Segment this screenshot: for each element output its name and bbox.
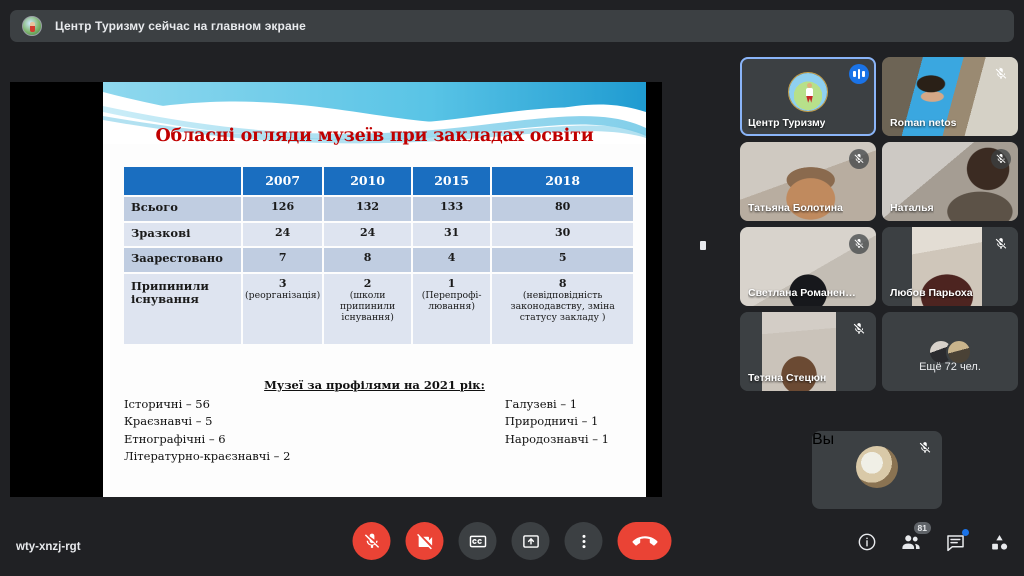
table-cell: 30 xyxy=(491,222,633,248)
tile-row: Тетяна Стецюн Ещё 72 чел. xyxy=(740,312,1018,391)
profiles-right-column: Галузеві – 1 Природничі – 1 Народознавчі… xyxy=(505,396,633,466)
chat-button[interactable] xyxy=(944,531,966,553)
table-row: Всього 126 132 133 80 xyxy=(124,196,633,222)
cell-number: 4 xyxy=(415,252,488,265)
participant-name: Центр Туризму xyxy=(748,117,825,129)
more-participants-tile[interactable]: Ещё 72 чел. xyxy=(882,312,1018,391)
profiles-left-column: Історичні – 56 Краєзнавчі – 5 Етнографіч… xyxy=(124,396,290,466)
bottom-right-icons: 81 xyxy=(856,531,1010,553)
table-cell: 7 xyxy=(242,247,323,273)
participants-count-badge: 81 xyxy=(914,522,931,534)
table-cell: 4 xyxy=(412,247,491,273)
closed-captions-icon xyxy=(468,532,487,551)
chat-unread-dot xyxy=(962,529,969,536)
cell-note: (реорганізація) xyxy=(245,291,320,302)
tile-row: Татьяна Болотина Наталья xyxy=(740,142,1018,221)
table-cell: 132 xyxy=(323,196,412,222)
cell-number: 5 xyxy=(494,252,631,265)
participant-rail: Центр Туризму Roman netos xyxy=(740,57,1018,397)
table-header-cell xyxy=(124,167,242,196)
participant-name: Светлана Романен… xyxy=(748,287,856,299)
participant-tile-centr-turizmu[interactable]: Центр Туризму xyxy=(740,57,876,136)
table-cell: 126 xyxy=(242,196,323,222)
tourism-center-logo-icon xyxy=(22,16,42,36)
mic-off-icon xyxy=(991,64,1011,84)
cell-note: (невідповідність законодавству, зміна ст… xyxy=(494,291,631,324)
profile-item: Історичні – 56 xyxy=(124,396,290,413)
mouse-cursor xyxy=(700,241,706,250)
participant-name: Тетяна Стецюн xyxy=(748,372,826,384)
profiles-heading: Музеї за профілями на 2021 рік: xyxy=(103,378,646,392)
table-header-cell: 2010 xyxy=(323,167,412,196)
cell-note: (Перепрофі-лювання) xyxy=(415,291,488,313)
presentation-banner: Центр Туризму сейчас на главном экране xyxy=(10,10,1014,42)
participant-tile-natalya[interactable]: Наталья xyxy=(882,142,1018,221)
hiker-logo-icon xyxy=(806,83,813,103)
meeting-details-button[interactable] xyxy=(856,531,878,553)
participant-name: Татьяна Болотина xyxy=(748,202,843,214)
table-cell: 8 (невідповідність законодавству, зміна … xyxy=(491,273,633,345)
present-icon xyxy=(521,532,540,551)
profile-item: Галузеві – 1 xyxy=(505,396,609,413)
presentation-slide: Обласні огляди музеїв при закладах освіт… xyxy=(103,82,646,497)
cell-number: 8 xyxy=(326,252,409,265)
mic-off-icon xyxy=(991,149,1011,169)
call-controls xyxy=(353,522,672,560)
microphone-off-button[interactable] xyxy=(353,522,391,560)
more-participants-label: Ещё 72 чел. xyxy=(882,361,1018,373)
cell-number: 30 xyxy=(494,227,631,240)
camera-off-button[interactable] xyxy=(406,522,444,560)
captions-button[interactable] xyxy=(459,522,497,560)
cell-note: (школи припинили існування) xyxy=(326,291,409,324)
profile-item: Природничі – 1 xyxy=(505,413,609,430)
table-header-cell: 2018 xyxy=(491,167,633,196)
mic-off-icon xyxy=(362,532,381,551)
table-header-cell: 2007 xyxy=(242,167,323,196)
participant-tile-roman-netos[interactable]: Roman netos xyxy=(882,57,1018,136)
profile-item: Народознавчі – 1 xyxy=(505,431,609,448)
info-icon xyxy=(857,532,877,552)
cell-number: 8 xyxy=(494,278,631,291)
profile-item: Етнографічні – 6 xyxy=(124,431,290,448)
participant-name: Любов Парьоха xyxy=(890,287,973,299)
table-cell: 133 xyxy=(412,196,491,222)
row-label: Заарестовано xyxy=(124,247,242,273)
mic-off-icon xyxy=(849,149,869,169)
more-options-button[interactable] xyxy=(565,522,603,560)
table-row: Зразкові 24 24 31 30 xyxy=(124,222,633,248)
table-cell: 8 xyxy=(323,247,412,273)
cell-number: 24 xyxy=(245,227,320,240)
leave-call-button[interactable] xyxy=(618,522,672,560)
profiles-lists: Історичні – 56 Краєзнавчі – 5 Етнографіч… xyxy=(124,396,633,466)
cell-number: 24 xyxy=(326,227,409,240)
table-cell: 1 (Перепрофі-лювання) xyxy=(412,273,491,345)
table-cell: 80 xyxy=(491,196,633,222)
participants-button[interactable]: 81 xyxy=(900,531,922,553)
cell-number: 7 xyxy=(245,252,320,265)
mic-off-icon xyxy=(849,234,869,254)
participant-tile-lyubov-paryokha[interactable]: Любов Парьоха xyxy=(882,227,1018,306)
google-meet-window: Центр Туризму сейчас на главном экране xyxy=(0,0,1024,576)
mic-off-icon xyxy=(991,234,1011,254)
cell-number: 133 xyxy=(415,201,488,214)
table-cell: 24 xyxy=(323,222,412,248)
table-cell: 2 (школи припинили існування) xyxy=(323,273,412,345)
activities-button[interactable] xyxy=(988,531,1010,553)
participant-tile-tetyana-stetsyun[interactable]: Тетяна Стецюн xyxy=(740,312,876,391)
profile-item: Літературно-краєзнавчі – 2 xyxy=(124,448,290,465)
table-row: Заарестовано 7 8 4 5 xyxy=(124,247,633,273)
cell-number: 1 xyxy=(415,278,488,291)
avatar xyxy=(856,446,898,488)
mic-off-icon xyxy=(849,319,869,339)
cell-number: 31 xyxy=(415,227,488,240)
mic-off-icon xyxy=(915,438,935,458)
activities-icon xyxy=(989,532,1010,553)
table-cell: 24 xyxy=(242,222,323,248)
avatar xyxy=(788,72,828,112)
table-header-row: 2007 2010 2015 2018 xyxy=(124,167,633,196)
museum-review-table: 2007 2010 2015 2018 Всього 126 132 133 8… xyxy=(124,167,633,346)
cell-number: 2 xyxy=(326,278,409,291)
participant-name: Наталья xyxy=(890,202,934,214)
video-off-icon xyxy=(415,532,434,551)
profile-item: Краєзнавчі – 5 xyxy=(124,413,290,430)
table-header-cell: 2015 xyxy=(412,167,491,196)
participant-tile-tatyana-bolotina[interactable]: Татьяна Болотина xyxy=(740,142,876,221)
present-screen-button[interactable] xyxy=(512,522,550,560)
participant-tile-svetlana-romanenko[interactable]: Светлана Романен… xyxy=(740,227,876,306)
cell-number: 132 xyxy=(326,201,409,214)
self-view-tile[interactable]: Вы xyxy=(812,431,942,509)
row-label: Всього xyxy=(124,196,242,222)
cell-number: 126 xyxy=(245,201,320,214)
presentation-banner-text: Центр Туризму сейчас на главном экране xyxy=(55,19,306,33)
shared-screen-stage[interactable]: Обласні огляди музеїв при закладах освіт… xyxy=(10,82,662,497)
cell-number: 3 xyxy=(245,278,320,291)
tile-row: Светлана Романен… Любов Парьоха xyxy=(740,227,1018,306)
tile-row: Центр Туризму Roman netos xyxy=(740,57,1018,136)
cell-number: 80 xyxy=(494,201,631,214)
table-cell: 5 xyxy=(491,247,633,273)
row-label: Припинили існування xyxy=(124,273,242,345)
table-row: Припинили існування 3 (реорганізація) 2 … xyxy=(124,273,633,345)
people-icon xyxy=(900,531,922,553)
more-vertical-icon xyxy=(574,532,593,551)
meeting-code: wty-xnzj-rgt xyxy=(16,541,81,553)
participant-name: Roman netos xyxy=(890,117,957,129)
speaking-indicator-icon xyxy=(849,64,869,84)
hangup-icon xyxy=(632,529,657,554)
row-label: Зразкові xyxy=(124,222,242,248)
table-cell: 31 xyxy=(412,222,491,248)
table-cell: 3 (реорганізація) xyxy=(242,273,323,345)
slide-title: Обласні огляди музеїв при закладах освіт… xyxy=(103,126,646,146)
